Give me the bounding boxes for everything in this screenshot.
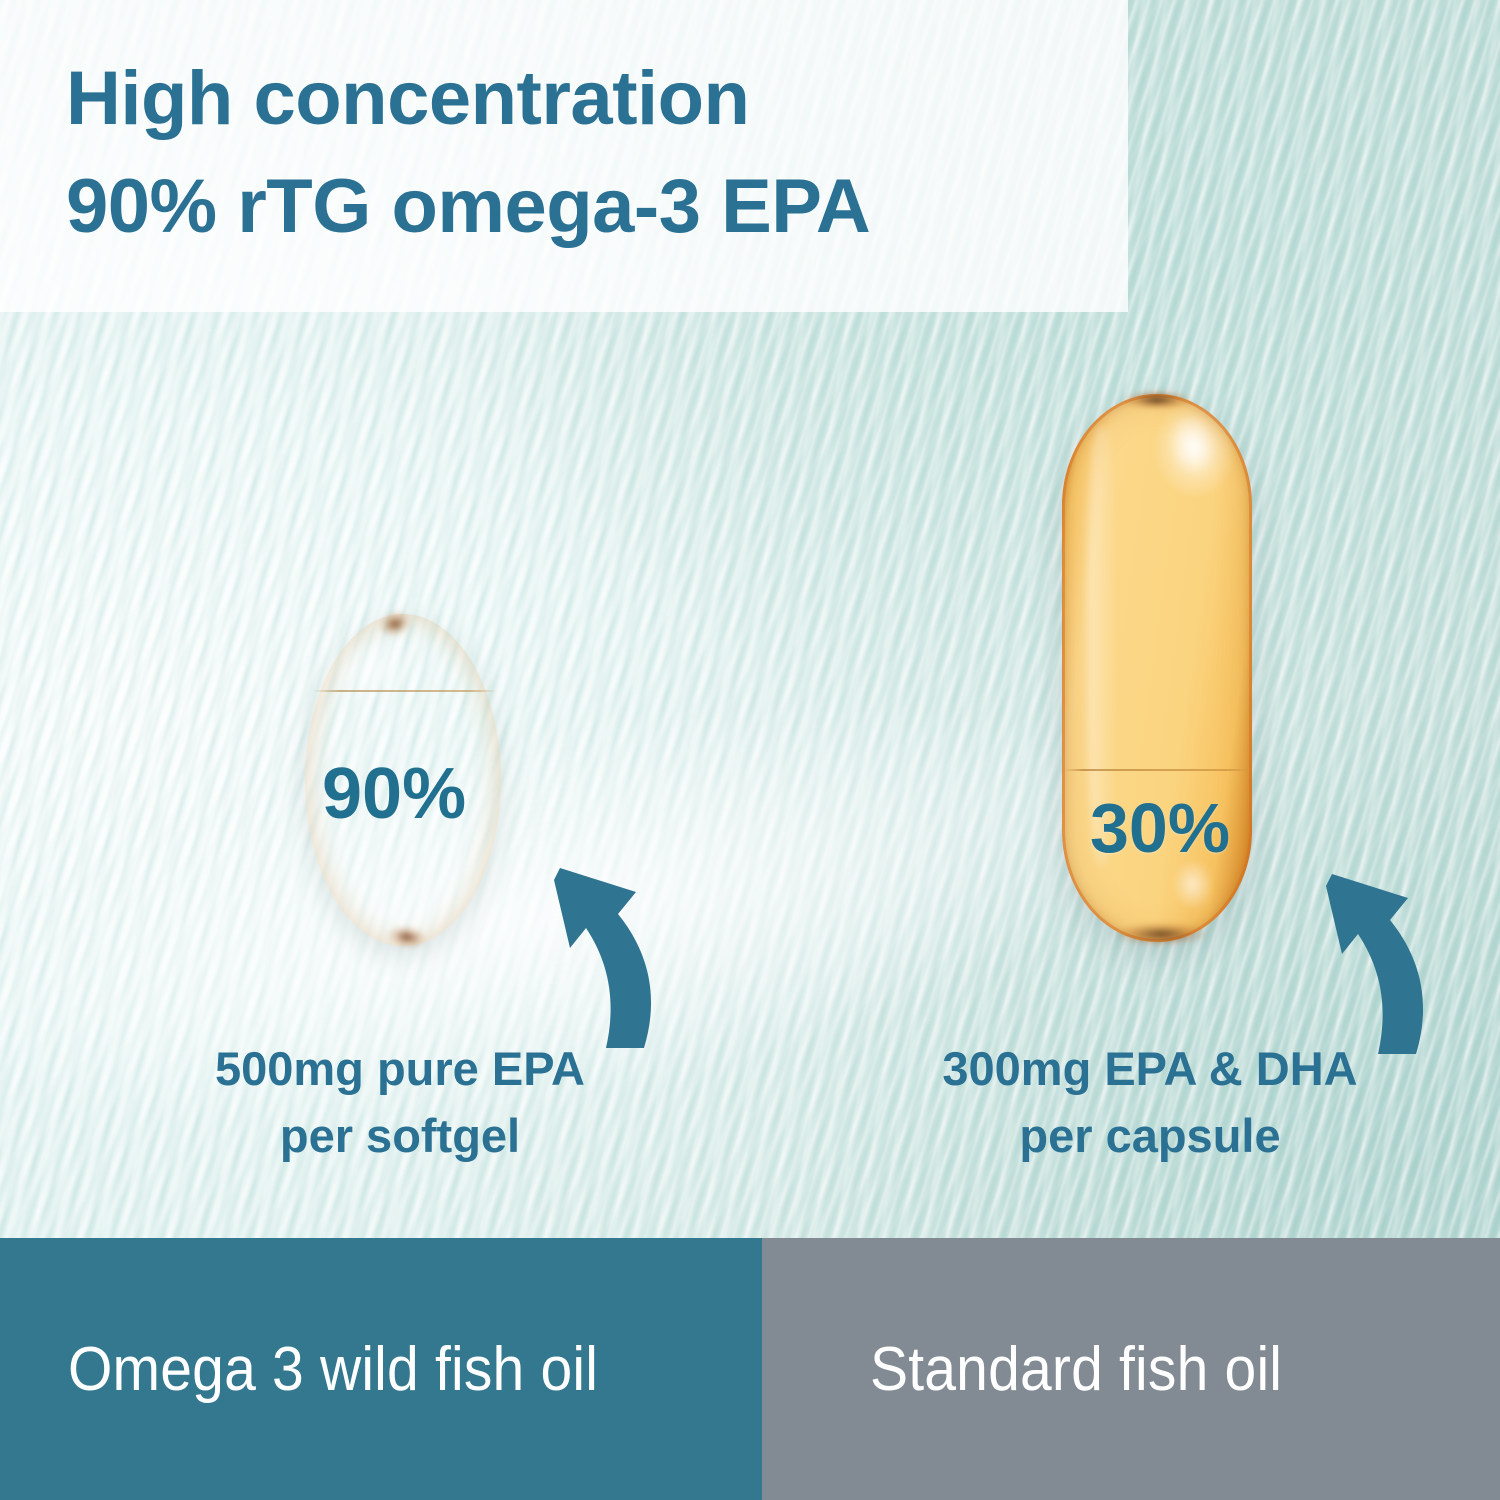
caption-right: 300mg EPA & DHA per capsule xyxy=(850,1036,1450,1169)
concentration-label-right: 30% xyxy=(1090,793,1230,863)
capsule-seam-bottom xyxy=(1113,922,1209,946)
headline-line-1: High concentration xyxy=(66,45,1128,153)
footer-label-left: Omega 3 wild fish oil xyxy=(68,1334,598,1405)
footer-cell-left: Omega 3 wild fish oil xyxy=(0,1238,762,1500)
headline-line-2: 90% rTG omega-3 EPA xyxy=(66,153,1128,261)
capsule-fill-level-line xyxy=(1064,769,1250,771)
headline-panel: High concentration 90% rTG omega-3 EPA xyxy=(0,0,1128,312)
capsule-seam-top xyxy=(1122,390,1192,410)
concentration-label-left: 90% xyxy=(322,758,466,830)
curved-arrow-up-left-icon-left xyxy=(540,852,662,1048)
footer-label-bars: Omega 3 wild fish oil Standard fish oil xyxy=(0,1238,1500,1500)
curved-arrow-up-left-icon-right xyxy=(1312,858,1434,1054)
footer-cell-right: Standard fish oil xyxy=(762,1238,1500,1500)
softgel-fill-level-line xyxy=(313,690,497,692)
footer-label-right: Standard fish oil xyxy=(870,1334,1282,1405)
caption-left: 500mg pure EPA per softgel xyxy=(120,1036,680,1169)
infographic-canvas: High concentration 90% rTG omega-3 EPA 9… xyxy=(0,0,1500,1500)
